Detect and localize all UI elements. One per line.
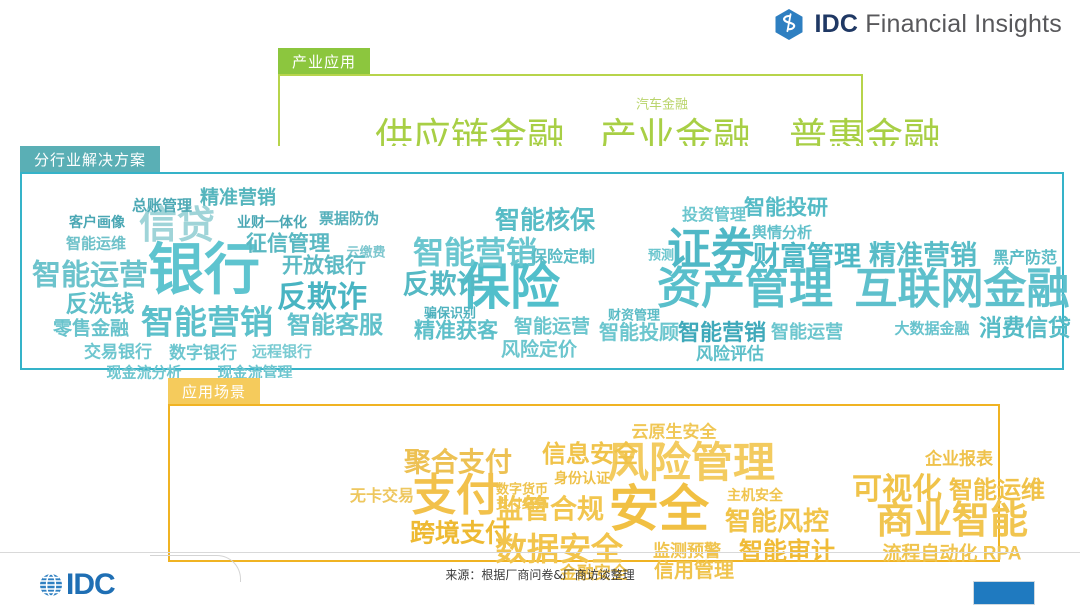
idc-logo-text: IDC [66, 570, 115, 600]
cloud-word: 智能投顾 [599, 323, 679, 343]
footer: 来源：根据厂商问卷&厂商访谈整理 IDC [0, 552, 1080, 608]
cloud-word: 智能风控 [725, 508, 829, 534]
cloud-word: 主机安全 [727, 488, 783, 502]
cloud-word: 智能营销 [141, 306, 273, 339]
brand-name-rest: Financial Insights [858, 10, 1062, 38]
cloud-word: 消费信贷 [979, 317, 1071, 340]
brand-header: IDC Financial Insights [774, 8, 1062, 41]
hexagon-dollar-icon [774, 8, 804, 41]
cloud-word: 无卡交易 [350, 489, 414, 505]
cloud-word: 舆情分析 [752, 226, 812, 241]
cloud-word: 精准营销 [869, 243, 977, 270]
globe-icon [38, 572, 64, 598]
idc-logo: IDC [38, 570, 115, 600]
cloud-word: 安全 [609, 484, 709, 534]
cloud-word: 汽车金融 [636, 98, 688, 111]
word-cloud-industry-application: 供应链金融产业金融汽车金融普惠金融 [280, 76, 861, 154]
cloud-word: 征信管理 [246, 234, 330, 255]
footer-divider [0, 552, 1080, 553]
cloud-word: 远程银行 [252, 345, 312, 360]
cloud-word: 智能营销 [678, 322, 766, 344]
cloud-word: 智能运维 [66, 237, 126, 252]
word-cloud-vertical-solutions: 银行信贷总账管理精准营销客户画像业财一体化票据防伪智能运维征信管理云缴费智能运营… [22, 174, 1062, 368]
cloud-word: 风险评估 [696, 346, 764, 363]
cloud-word: 骗保识别 [424, 307, 476, 320]
section-tab-label: 应用场景 [182, 381, 246, 402]
cloud-word: 监管合规 [496, 497, 604, 524]
cloud-word: 风险定价 [501, 341, 577, 360]
cloud-word: 信息安全 [542, 443, 638, 467]
cloud-word: 交易银行 [84, 344, 152, 361]
section-vertical-solutions: 分行业解决方案 银行信贷总账管理精准营销客户画像业财一体化票据防伪智能运维征信管… [20, 146, 1064, 370]
cloud-word: 商业智能 [876, 502, 1028, 540]
cloud-word: 企业报表 [925, 451, 993, 468]
cloud-word: 反洗钱 [66, 293, 135, 316]
section-tab-vertical-solutions[interactable]: 分行业解决方案 [20, 146, 160, 172]
cloud-word: 保险定制 [531, 250, 595, 266]
cloud-word: 资产管理 [657, 267, 833, 311]
section-tab-label: 产业应用 [292, 51, 356, 72]
cloud-word: 智能投研 [744, 198, 828, 219]
cloud-word: 支付 [412, 474, 500, 518]
brand-name: IDC Financial Insights [814, 10, 1062, 39]
cloud-word: 智能运维 [949, 479, 1045, 503]
word-cloud-application-scenarios: 支付聚合支付无卡交易数字货币支付结算跨境支付风险管理云原生安全信息安全身份认证安… [170, 406, 998, 560]
cloud-word: 智能营销 [413, 238, 537, 269]
cloud-word: 黑产防范 [993, 251, 1057, 267]
cloud-word: 财资管理 [608, 309, 660, 322]
cloud-word: 客户画像 [69, 215, 125, 229]
cloud-word: 业财一体化 [237, 215, 307, 229]
cloud-word: 零售金融 [53, 320, 129, 339]
cloud-word: 票据防伪 [319, 212, 379, 227]
cloud-word: 财富管理 [753, 244, 861, 271]
section-body-industry-application: 供应链金融产业金融汽车金融普惠金融 [278, 74, 863, 156]
cloud-word: 智能运营 [514, 318, 590, 337]
cloud-word: 反欺诈 [403, 272, 484, 299]
cloud-word: 数字银行 [169, 345, 237, 362]
cloud-word: 智能客服 [287, 314, 383, 338]
section-tab-industry-application[interactable]: 产业应用 [278, 48, 370, 74]
cloud-word: 反欺诈 [277, 283, 367, 313]
cloud-word: 大数据金融 [894, 322, 969, 337]
cloud-word: 预测 [648, 249, 674, 262]
cloud-word: 互联网金融 [855, 269, 1070, 312]
cloud-word: 智能运营 [771, 323, 843, 341]
brand-name-bold: IDC [814, 10, 858, 38]
footer-swoosh-decoration [150, 555, 241, 582]
cloud-word: 总账管理 [132, 199, 192, 214]
cloud-word: 可视化 [852, 475, 942, 505]
cloud-word: 身份认证 [554, 471, 610, 485]
footer-accent-block [973, 581, 1035, 605]
section-industry-application: 产业应用 供应链金融产业金融汽车金融普惠金融 [278, 48, 863, 156]
section-tab-application-scenarios[interactable]: 应用场景 [168, 378, 260, 404]
section-application-scenarios: 应用场景 支付聚合支付无卡交易数字货币支付结算跨境支付风险管理云原生安全信息安全… [168, 378, 1000, 562]
cloud-word: 精准营销 [200, 189, 276, 208]
cloud-word: 投资管理 [682, 208, 746, 224]
cloud-word: 智能核保 [495, 209, 595, 234]
cloud-word: 智能运营 [32, 262, 148, 291]
cloud-word: 精准获客 [414, 321, 498, 342]
section-body-vertical-solutions: 银行信贷总账管理精准营销客户画像业财一体化票据防伪智能运维征信管理云缴费智能运营… [20, 172, 1064, 370]
cloud-word: 银行 [148, 242, 260, 298]
section-tab-label: 分行业解决方案 [34, 149, 146, 170]
cloud-word: 聚合支付 [404, 450, 512, 477]
section-body-application-scenarios: 支付聚合支付无卡交易数字货币支付结算跨境支付风险管理云原生安全信息安全身份认证安… [168, 404, 1000, 562]
cloud-word: 开放银行 [282, 256, 366, 277]
cloud-word: 云原生安全 [632, 424, 717, 441]
